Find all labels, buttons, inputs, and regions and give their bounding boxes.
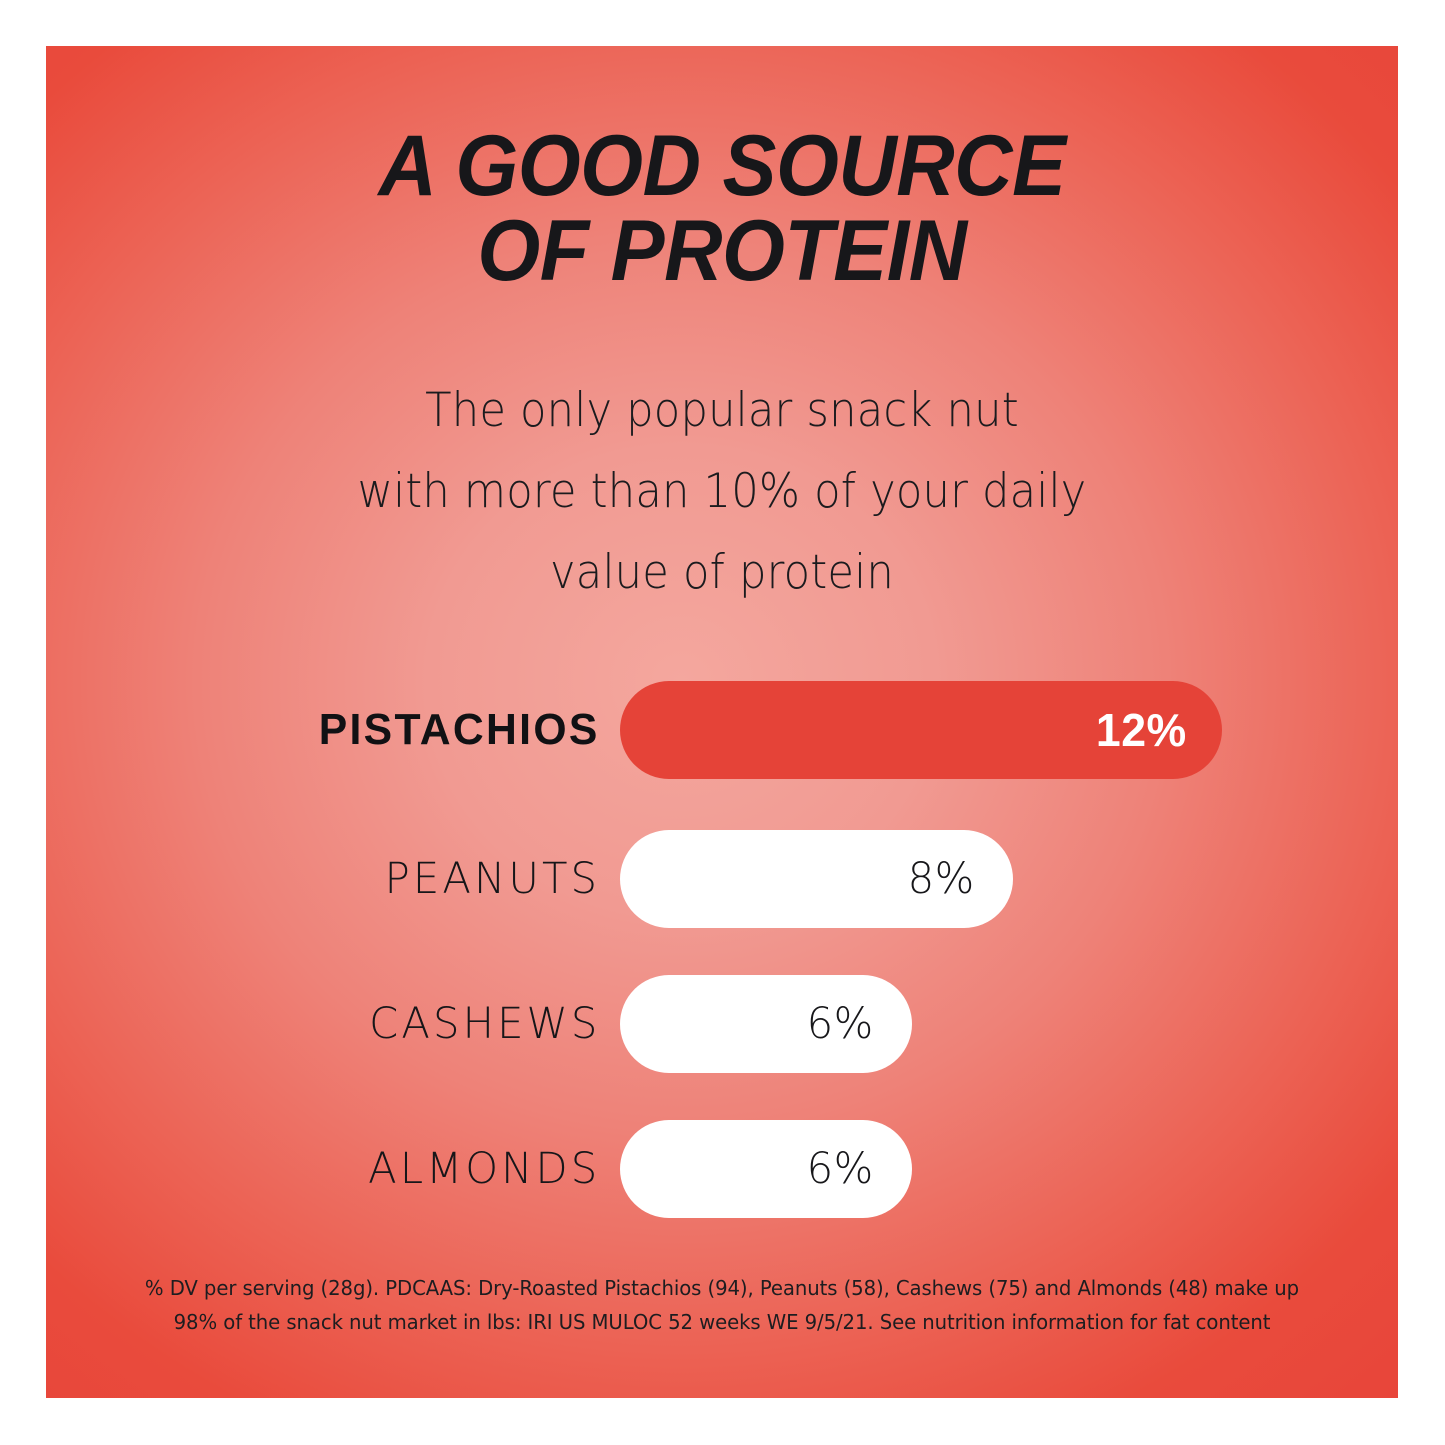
headline-line-2: OF PROTEIN <box>87 209 1358 294</box>
subtitle: The only popular snack nut with more tha… <box>100 371 1344 613</box>
bar-peanuts: 8% <box>620 830 1013 928</box>
bar-value-cashews: 6% <box>806 999 910 1049</box>
footnote-line-2: 98% of the snack nut market in lbs: IRI … <box>73 1306 1371 1340</box>
bar-label-peanuts: PEANUTS <box>385 830 600 928</box>
bar-value-peanuts: 8% <box>907 854 1011 904</box>
subtitle-line-3: value of protein <box>100 533 1344 614</box>
bar-almonds: 6% <box>620 1120 912 1218</box>
subtitle-line-2: with more than 10% of your daily <box>100 452 1344 533</box>
bar-value-pistachios: 12% <box>1096 703 1220 757</box>
chart-row: CASHEWS 6% <box>46 975 1398 1073</box>
footnote: % DV per serving (28g). PDCAAS: Dry-Roas… <box>73 1272 1371 1340</box>
bar-value-almonds: 6% <box>806 1144 910 1194</box>
chart-row: ALMONDS 6% <box>46 1120 1398 1218</box>
chart-row: PEANUTS 8% <box>46 830 1398 928</box>
footnote-line-1: % DV per serving (28g). PDCAAS: Dry-Roas… <box>73 1272 1371 1306</box>
bar-label-almonds: ALMONDS <box>368 1120 600 1218</box>
chart-row: PISTACHIOS 12% <box>46 681 1398 779</box>
page-title: A GOOD SOURCE OF PROTEIN <box>87 124 1358 294</box>
protein-bar-chart: PISTACHIOS 12% PEANUTS 8% CASHEWS 6% ALM… <box>46 681 1398 1265</box>
poster-panel: A GOOD SOURCE OF PROTEIN The only popula… <box>46 46 1398 1398</box>
bar-label-pistachios: PISTACHIOS <box>319 681 600 779</box>
bar-pistachios: 12% <box>620 681 1222 779</box>
subtitle-line-1: The only popular snack nut <box>100 371 1344 452</box>
bar-cashews: 6% <box>620 975 912 1073</box>
headline-line-1: A GOOD SOURCE <box>87 124 1358 209</box>
bar-label-cashews: CASHEWS <box>369 975 600 1073</box>
infographic-canvas: A GOOD SOURCE OF PROTEIN The only popula… <box>0 0 1445 1445</box>
